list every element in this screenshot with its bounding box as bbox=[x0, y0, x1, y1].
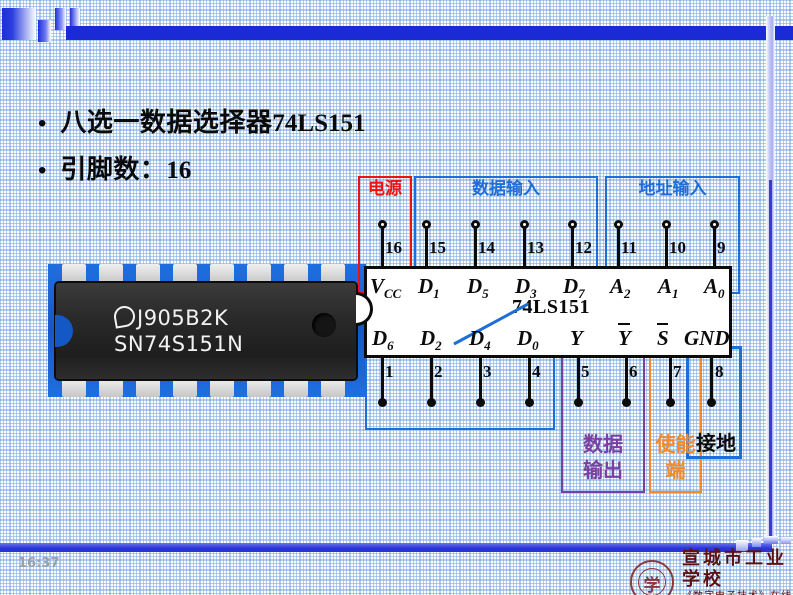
ic-pins-bottom bbox=[48, 378, 366, 397]
bullet-item-2: • 引脚数： 16 bbox=[38, 149, 366, 186]
pin-number-10: 10 bbox=[669, 238, 686, 258]
ic-notch-icon bbox=[55, 315, 73, 347]
pin-number-16: 16 bbox=[385, 238, 402, 258]
pin-stem-16 bbox=[381, 228, 384, 268]
pin-number-2: 2 bbox=[434, 362, 443, 382]
ic-pin bbox=[99, 378, 123, 397]
school-seal-icon: 学 bbox=[630, 560, 674, 595]
ic-pin bbox=[247, 378, 271, 397]
pin-label-y: Y bbox=[570, 326, 583, 351]
ic-pin bbox=[210, 378, 234, 397]
bullet-marker-2: • bbox=[38, 159, 46, 183]
ic-pin bbox=[136, 264, 160, 283]
ic-pin bbox=[284, 264, 308, 283]
pin-number-1: 1 bbox=[385, 362, 394, 382]
ic-pin bbox=[173, 264, 197, 283]
pin-label-d6: D6 bbox=[372, 326, 394, 354]
pin-label-a2: A2 bbox=[610, 274, 631, 302]
pin-stem-12 bbox=[571, 228, 574, 268]
deco-bottom-square-3 bbox=[764, 536, 778, 544]
pin-terminal-8 bbox=[707, 398, 716, 407]
pin-stem-14 bbox=[474, 228, 477, 268]
bullet-text-en-2: 16 bbox=[166, 157, 191, 185]
deco-top-bar bbox=[66, 26, 793, 40]
pin-number-9: 9 bbox=[717, 238, 726, 258]
clock-label: 16:37 bbox=[18, 556, 59, 571]
ic-marking-line2: SN74S151N bbox=[114, 332, 243, 356]
pin-label-d4: D4 bbox=[469, 326, 491, 354]
pin-label-d2: D2 bbox=[420, 326, 442, 354]
bullet-marker-1: • bbox=[38, 112, 46, 136]
group-title-data-input: 数据输入 bbox=[414, 180, 598, 199]
ti-logo-icon bbox=[112, 304, 136, 328]
deco-bottom-square-2 bbox=[752, 538, 761, 547]
pin-stem-13 bbox=[523, 228, 526, 268]
ic-pin bbox=[62, 264, 86, 283]
deco-block-2 bbox=[38, 20, 51, 42]
ic-pin bbox=[62, 378, 86, 397]
pin-label-gnd: GND bbox=[684, 326, 730, 351]
pin-label-vcc: VCC bbox=[370, 274, 401, 302]
pin-number-3: 3 bbox=[483, 362, 492, 382]
pin-terminal-7 bbox=[666, 398, 675, 407]
ic-pin bbox=[247, 264, 271, 283]
pin-terminal-6 bbox=[622, 398, 631, 407]
pin-number-11: 11 bbox=[621, 238, 637, 258]
bullet-text-en-1: 74LS151 bbox=[272, 110, 365, 138]
pin-number-13: 13 bbox=[527, 238, 544, 258]
pin-stem-11 bbox=[617, 228, 620, 268]
ic-pin bbox=[321, 264, 345, 283]
pin-stem-9 bbox=[713, 228, 716, 268]
ic-pins-top bbox=[48, 264, 366, 283]
pin-stem-15 bbox=[425, 228, 428, 268]
pin-label-a1: A1 bbox=[658, 274, 679, 302]
pin-stem-8 bbox=[710, 358, 713, 402]
deco-block-1 bbox=[2, 8, 36, 40]
ic-marking-text: J905B2K SN74S151N bbox=[114, 305, 243, 357]
group-title-ground: 接地 bbox=[690, 434, 742, 453]
deco-bottom-square-4 bbox=[781, 537, 791, 544]
ic-pin bbox=[321, 378, 345, 397]
pin-terminal-4 bbox=[525, 398, 534, 407]
pin-stem-5 bbox=[577, 358, 580, 402]
deco-block-4 bbox=[70, 8, 80, 26]
pin-label-d1: D1 bbox=[418, 274, 440, 302]
pin-number-7: 7 bbox=[673, 362, 682, 382]
pin-label-y-not: Y bbox=[618, 326, 631, 351]
group-title-addr-input: 地址输入 bbox=[605, 180, 740, 199]
ic-marking-line1: J905B2K bbox=[137, 306, 228, 330]
ic-pin bbox=[136, 378, 160, 397]
pinout-diagram: 电源 数据输入 地址输入 数据 输出 使能 端 接地 74LS151 16 15… bbox=[352, 176, 772, 506]
deco-block-3 bbox=[55, 8, 66, 30]
pin-label-d7: D7 bbox=[563, 274, 585, 302]
bullet-text-cn-1: 八选一数据选择器 bbox=[60, 102, 272, 139]
group-title-data-output-line2: 输出 bbox=[561, 461, 645, 480]
pin-stem-10 bbox=[665, 228, 668, 268]
pin-stem-7 bbox=[669, 358, 672, 402]
pin-terminal-1 bbox=[378, 398, 387, 407]
pin-number-5: 5 bbox=[581, 362, 590, 382]
ic-photo: J905B2K SN74S151N bbox=[48, 264, 366, 397]
school-name: 宣城市工业学校 bbox=[682, 549, 793, 590]
pin-label-d0: D0 bbox=[517, 326, 539, 354]
pin-number-6: 6 bbox=[629, 362, 638, 382]
pin-label-d3: D3 bbox=[515, 274, 537, 302]
school-branding: 学 宣城市工业学校 《数字电子技术》在线精品课程 bbox=[630, 549, 793, 595]
school-course: 《数字电子技术》在线精品课程 bbox=[682, 591, 793, 595]
slide-canvas: • 八选一数据选择器 74LS151 • 引脚数： 16 bbox=[0, 0, 793, 595]
school-seal-char: 学 bbox=[632, 571, 672, 595]
pin-number-14: 14 bbox=[478, 238, 495, 258]
bullet-text-cn-2: 引脚数： bbox=[60, 149, 166, 186]
ic-pin bbox=[284, 378, 308, 397]
ic-pin bbox=[210, 264, 234, 283]
pin-stem-6 bbox=[625, 358, 628, 402]
pin-label-d5: D5 bbox=[467, 274, 489, 302]
pin-stem-1 bbox=[381, 358, 384, 402]
pin-terminal-3 bbox=[476, 398, 485, 407]
pin-stem-4 bbox=[528, 358, 531, 402]
group-title-data-output-line1: 数据 bbox=[561, 435, 645, 454]
ic-pin bbox=[173, 378, 197, 397]
pin-stem-3 bbox=[479, 358, 482, 402]
pin-number-15: 15 bbox=[429, 238, 446, 258]
ic-package-body: J905B2K SN74S151N bbox=[56, 283, 356, 379]
bullet-list: • 八选一数据选择器 74LS151 • 引脚数： 16 bbox=[38, 102, 366, 196]
pin-terminal-2 bbox=[427, 398, 436, 407]
school-text: 宣城市工业学校 《数字电子技术》在线精品课程 bbox=[682, 549, 793, 595]
bullet-item-1: • 八选一数据选择器 74LS151 bbox=[38, 102, 366, 139]
pin-number-12: 12 bbox=[575, 238, 592, 258]
pin-terminal-5 bbox=[574, 398, 583, 407]
ic-pin bbox=[99, 264, 123, 283]
pin-stem-2 bbox=[430, 358, 433, 402]
pin-number-8: 8 bbox=[715, 362, 724, 382]
pin-label-a0: A0 bbox=[704, 274, 725, 302]
pin-label-s-not: S bbox=[657, 326, 669, 351]
group-title-enable-line2: 端 bbox=[649, 461, 702, 480]
pin-number-4: 4 bbox=[532, 362, 541, 382]
ic-dimple-icon bbox=[312, 313, 336, 337]
group-title-power: 电源 bbox=[358, 180, 412, 199]
